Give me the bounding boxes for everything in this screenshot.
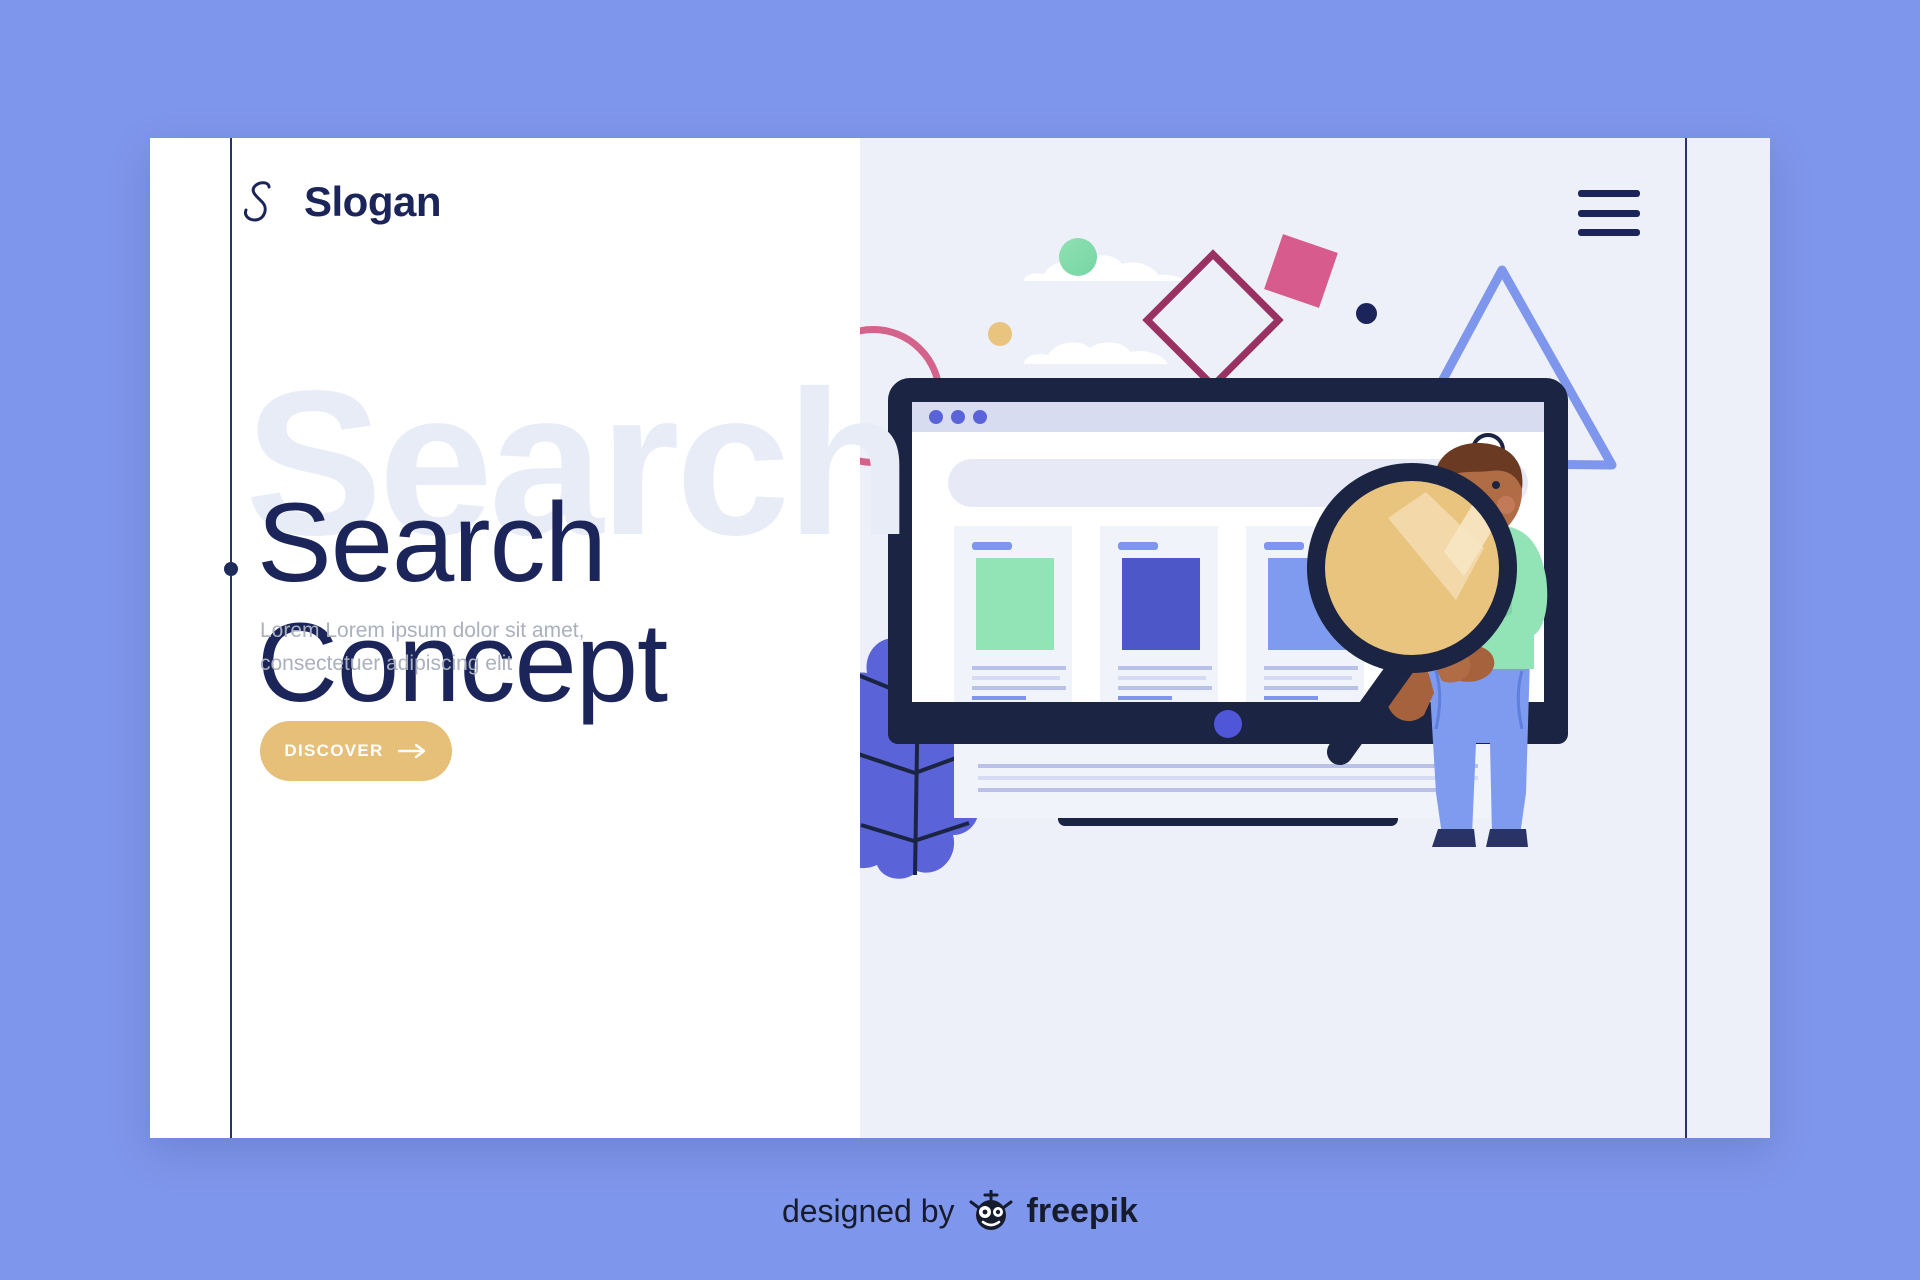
gold-dot-shape: [988, 322, 1012, 346]
discover-button-label: DISCOVER: [284, 741, 383, 761]
footer-brand: freepik: [1027, 1192, 1139, 1231]
result-card-1: [954, 526, 1072, 726]
green-circle-shape: [1059, 238, 1097, 276]
freepik-robot-icon: [969, 1190, 1013, 1232]
browser-dot-icon: [929, 410, 943, 424]
discover-button[interactable]: DISCOVER: [260, 721, 452, 781]
pink-square-shape: [1264, 234, 1338, 308]
result-card-2: [1100, 526, 1218, 726]
browser-dot-icon: [951, 410, 965, 424]
illustration-scene: [860, 138, 1770, 1138]
browser-dot-icon: [973, 410, 987, 424]
magnifying-glass: [1288, 456, 1538, 786]
hero-subtext: Lorem Lorem ipsum dolor sit amet, consec…: [260, 615, 620, 680]
footer-designed-by: designed by: [782, 1193, 955, 1230]
footer-credit: designed by freepik: [0, 1190, 1920, 1232]
hamburger-bar-1: [1578, 190, 1640, 197]
brand-logo[interactable]: Slogan: [238, 180, 441, 224]
vertical-rule-dot: [224, 562, 238, 576]
right-vertical-rule: [1685, 138, 1687, 1138]
hamburger-bar-2: [1578, 210, 1640, 217]
brand-wordmark: Slogan: [304, 181, 441, 223]
headline-line-1: Search: [257, 480, 606, 605]
page-title: Search Concept: [257, 483, 667, 723]
hamburger-bar-3: [1578, 229, 1640, 236]
arrow-right-icon: [398, 743, 428, 759]
left-vertical-rule: [230, 138, 232, 1138]
script-s-mark-icon: [238, 180, 278, 224]
hamburger-menu-icon[interactable]: [1578, 190, 1640, 236]
navy-dot-shape: [1356, 303, 1377, 324]
landing-page-card: Search Search Concept Lorem Lorem ipsum …: [150, 138, 1770, 1138]
